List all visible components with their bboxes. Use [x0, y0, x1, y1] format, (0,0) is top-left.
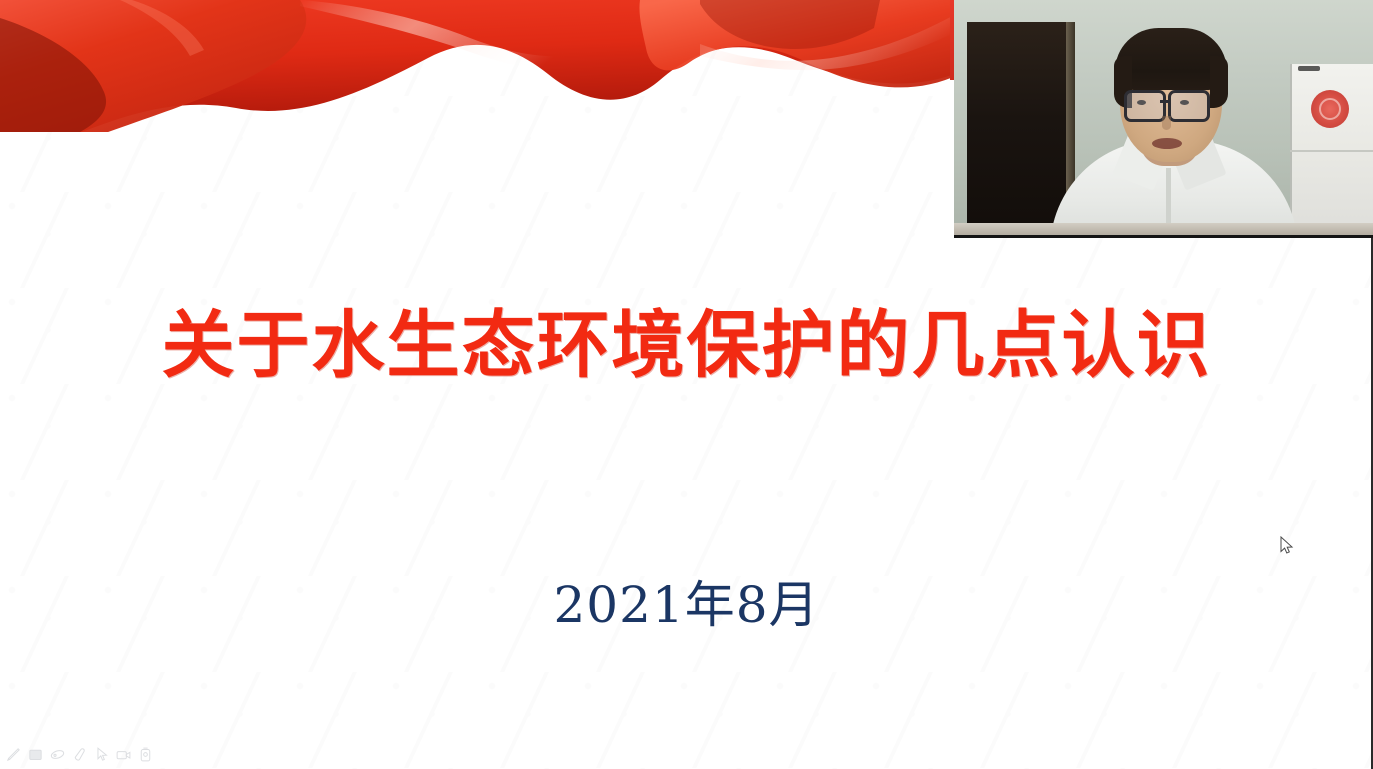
slide-title: 关于水生态环境保护的几点认识 [0, 306, 1373, 386]
screen-share-window: 关于水生态环境保护的几点认识 2021年8月 [0, 0, 1373, 769]
eyeglasses-lens-right-icon [1168, 90, 1210, 122]
video-camera-icon[interactable] [112, 743, 134, 765]
presenter-video-feed[interactable] [954, 0, 1373, 238]
video-refrigerator-handle [1298, 66, 1320, 71]
video-presenter-mouth [1152, 138, 1182, 149]
eyeglasses-lens-left-icon [1124, 90, 1166, 122]
video-presenter-hair-right [1210, 56, 1228, 108]
highlighter-icon[interactable] [46, 743, 68, 765]
eyeglasses-bridge-icon [1160, 100, 1168, 103]
video-presenter-nose [1162, 116, 1171, 130]
eraser-icon[interactable] [68, 743, 90, 765]
screen-lock-icon[interactable] [134, 743, 156, 765]
video-red-seal-sticker [1311, 90, 1349, 128]
slide-date: 2021年8月 [0, 565, 1373, 637]
video-door [967, 22, 1066, 238]
red-silk-ribbon-banner [0, 0, 960, 132]
rectangle-icon[interactable] [24, 743, 46, 765]
pen-icon[interactable] [2, 743, 24, 765]
video-desk-edge [954, 223, 1373, 235]
annotation-toolbar[interactable] [0, 739, 156, 769]
cursor-icon[interactable] [90, 743, 112, 765]
video-refrigerator-seam [1290, 150, 1373, 152]
